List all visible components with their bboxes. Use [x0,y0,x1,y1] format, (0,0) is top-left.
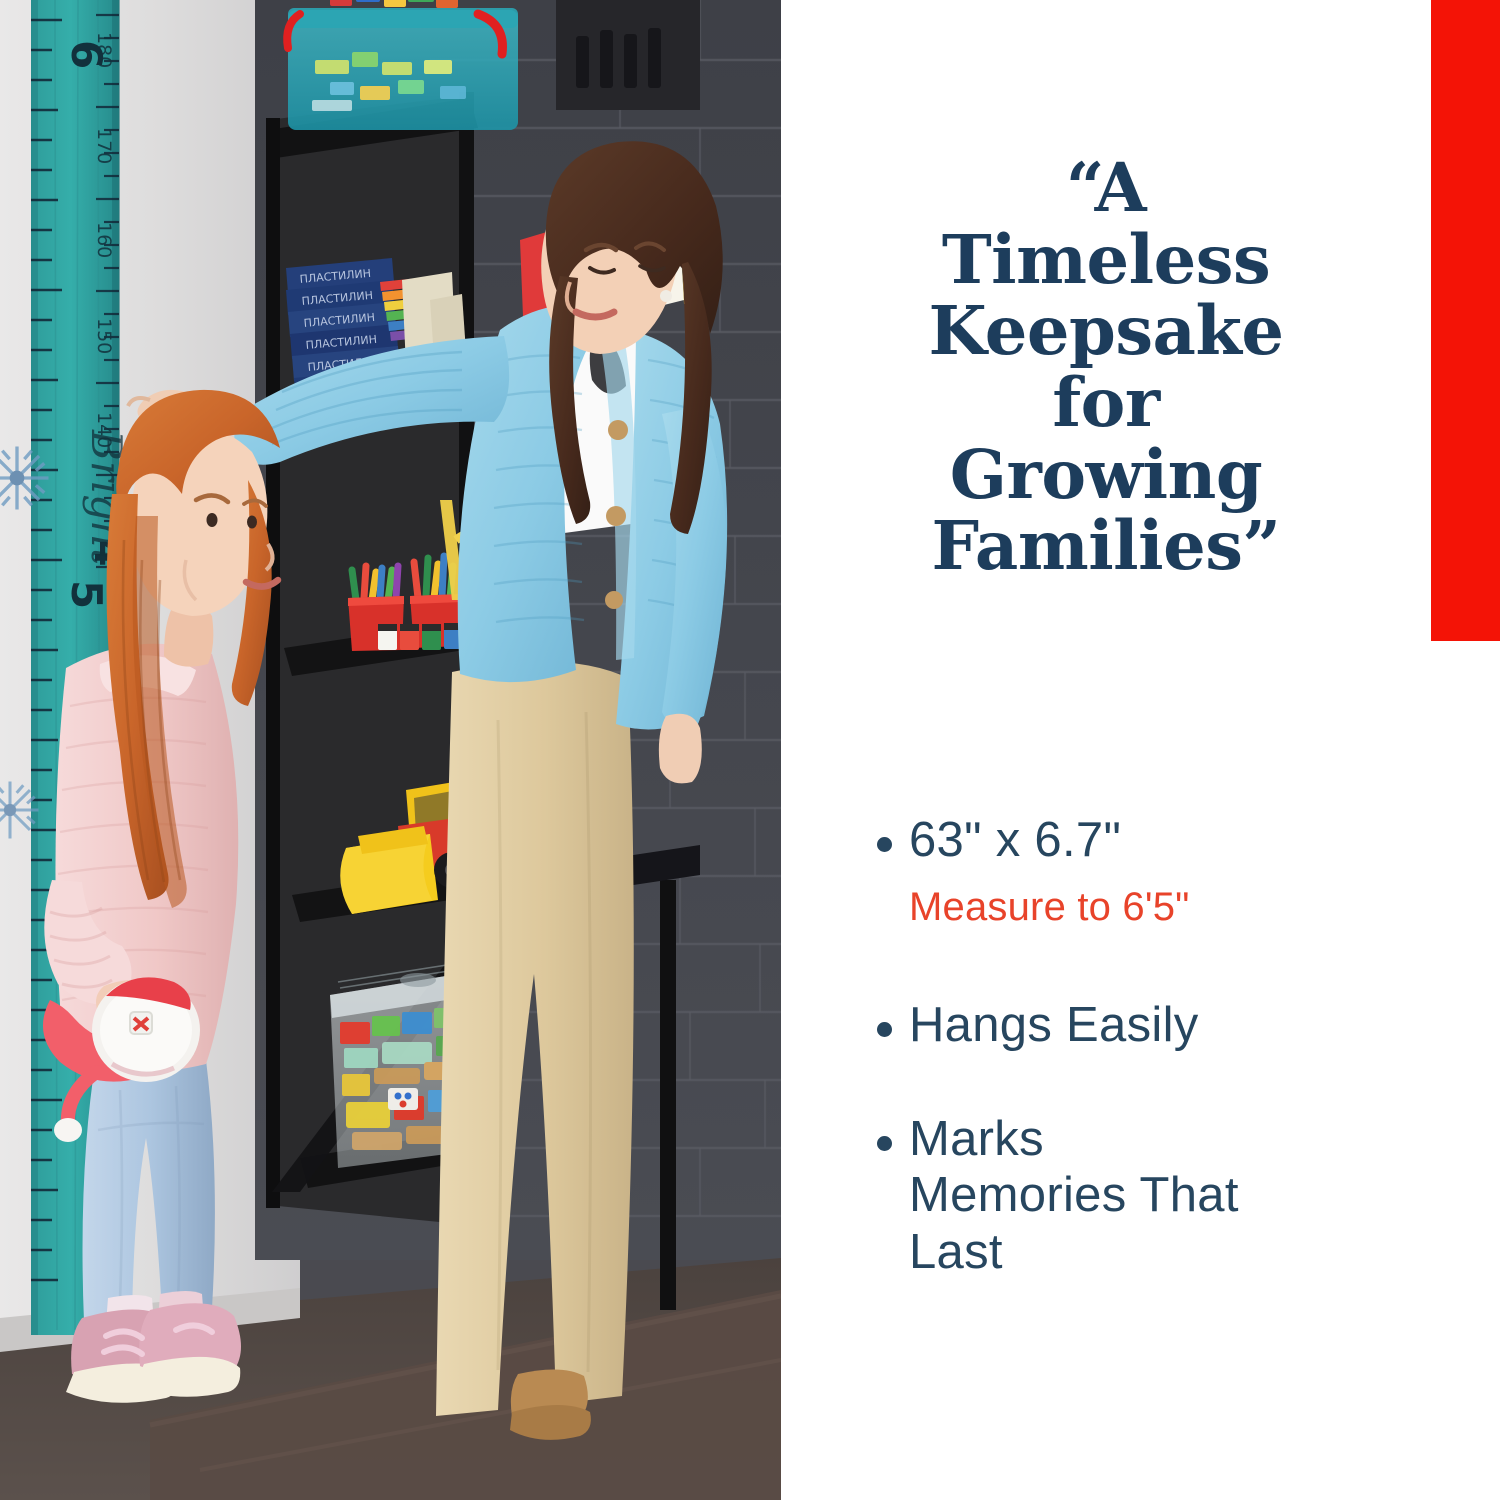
feature-label-dimensions: 63" x 6.7" [909,812,1121,869]
bullet-dot-icon [877,1022,892,1037]
feature-list: 63" x 6.7" Measure to 6'5" Hangs Easily … [877,812,1347,1281]
list-item: Marks Memories That Last [877,1111,1347,1281]
ruler-cm-180: 180 [93,32,115,68]
ruler-cm-160: 160 [93,222,115,258]
headline-line-2: Timeless [781,224,1431,296]
photo-illustration: 6 5 4 2 180 170 160 150 [0,0,781,1500]
ruler-mark-5: 5 [62,580,111,609]
headline-line-5: Growing [781,439,1431,511]
feature-label-marks-memories: Marks Memories That Last [909,1111,1239,1281]
list-item: Hangs Easily [877,997,1347,1054]
feature-label-hangs-easily: Hangs Easily [909,997,1199,1054]
page-title: “A Timeless Keepsake for Growing Familie… [781,152,1431,582]
red-accent-bar [1431,0,1500,641]
bullet-dot-icon [877,1136,892,1151]
copy-panel: “A Timeless Keepsake for Growing Familie… [781,0,1500,1500]
list-item: 63" x 6.7" [877,812,1347,869]
child-shoes [66,1303,241,1403]
headline-line-3: Keepsake [781,295,1431,367]
storage-bin-top [287,0,518,130]
feature-sublabel-measure-range: Measure to 6'5" [909,883,1347,931]
bullet-dot-icon [877,837,892,852]
headline-line-4: for [781,367,1431,439]
ruler-cm-150: 150 [93,318,115,354]
headline-line-1: “A [781,152,1431,224]
product-listing-canvas: 6 5 4 2 180 170 160 150 [0,0,1500,1500]
lifestyle-photo: 6 5 4 2 180 170 160 150 [0,0,781,1500]
ruler-cm-170: 170 [93,128,115,164]
headline-line-6: Families” [781,510,1431,582]
